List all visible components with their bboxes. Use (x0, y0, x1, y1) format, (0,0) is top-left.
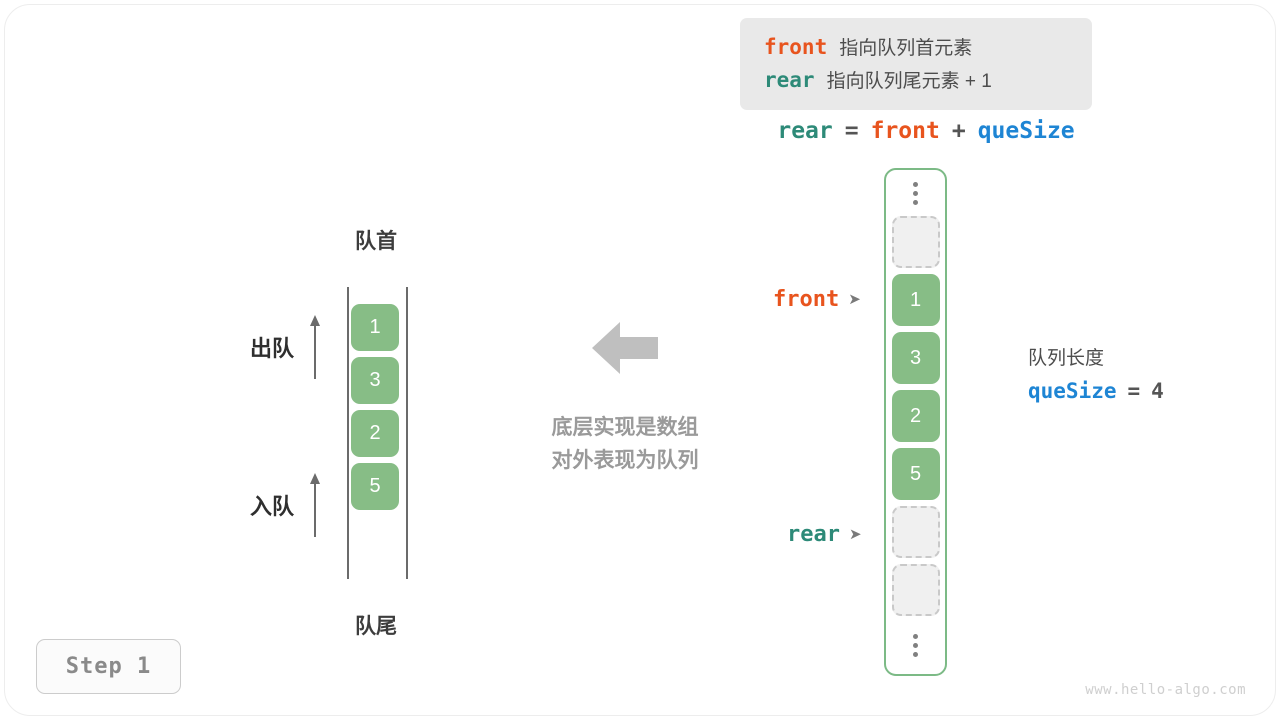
caption-line-1: 底层实现是数组 (504, 412, 746, 445)
queue-cell-stack: 1 3 2 5 (351, 304, 401, 516)
array-cell-filled-2: 3 (892, 332, 940, 384)
quesize-equals: = (1128, 379, 1141, 403)
dequeue-annotation: 出队 (250, 315, 322, 379)
array-cell-empty-5 (892, 506, 940, 558)
queue-cell-3: 2 (351, 410, 399, 457)
equation-rhs-front: front (871, 118, 940, 144)
enqueue-annotation: 入队 (250, 473, 322, 537)
caption-line-2: 对外表现为队列 (504, 445, 746, 478)
enqueue-label: 入队 (250, 489, 294, 521)
dequeue-up-arrow-icon (308, 315, 322, 379)
array-cell-empty-6 (892, 564, 940, 616)
legend-front-var: front (764, 35, 827, 59)
equation-equals: = (845, 118, 859, 144)
array-cell-filled-4: 5 (892, 448, 940, 500)
step-badge: Step 1 (36, 639, 181, 694)
array-bottom-ellipsis-icon (913, 622, 918, 668)
array-container: 1 3 2 5 (884, 168, 947, 676)
array-top-ellipsis-icon (913, 170, 918, 216)
legend-front-desc: 指向队列首元素 (839, 33, 972, 60)
rear-pointer: rear ➤ (787, 522, 862, 547)
rear-arrow-icon: ➤ (849, 527, 862, 542)
implementation-caption: 底层实现是数组 对外表现为队列 (504, 412, 746, 477)
rear-pointer-label: rear (787, 522, 840, 547)
queue-cell-1: 1 (351, 304, 399, 351)
quesize-value: 4 (1151, 379, 1164, 403)
rear-equation: rear=front+queSize (760, 118, 1092, 144)
legend-rear-desc: 指向队列尾元素 + 1 (827, 66, 992, 93)
queue-cell-2: 3 (351, 357, 399, 404)
quesize-note: 队列长度 queSize=4 (1028, 343, 1164, 403)
queue-head-label: 队首 (330, 225, 422, 255)
front-pointer-label: front (773, 287, 839, 312)
watermark: www.hello-algo.com (1085, 682, 1246, 698)
pointer-legend-box: front 指向队列首元素 rear 指向队列尾元素 + 1 (740, 18, 1092, 110)
queue-cell-4: 5 (351, 463, 399, 510)
equation-plus: + (952, 118, 966, 144)
queue-rail-left (347, 287, 349, 579)
dequeue-label: 出队 (250, 331, 294, 363)
front-arrow-icon: ➤ (848, 292, 861, 307)
legend-rear-var: rear (764, 68, 815, 92)
quesize-var: queSize (1028, 379, 1117, 403)
array-cell-filled-1: 1 (892, 274, 940, 326)
diagram-canvas: front 指向队列首元素 rear 指向队列尾元素 + 1 rear=fron… (0, 0, 1280, 720)
queue-rail-right (406, 287, 408, 579)
legend-row-front: front 指向队列首元素 (740, 30, 1092, 63)
array-cell-empty-top (892, 216, 940, 268)
quesize-note-title: 队列长度 (1028, 343, 1164, 370)
front-pointer: front ➤ (773, 287, 861, 312)
array-cell-filled-3: 2 (892, 390, 940, 442)
equation-rhs-quesize: queSize (978, 118, 1075, 144)
legend-row-rear: rear 指向队列尾元素 + 1 (740, 63, 1092, 96)
enqueue-up-arrow-icon (308, 473, 322, 537)
left-pointing-arrow-icon (592, 320, 658, 376)
quesize-note-expression: queSize=4 (1028, 379, 1164, 403)
equation-lhs: rear (777, 118, 832, 144)
queue-tail-label: 队尾 (330, 610, 422, 640)
